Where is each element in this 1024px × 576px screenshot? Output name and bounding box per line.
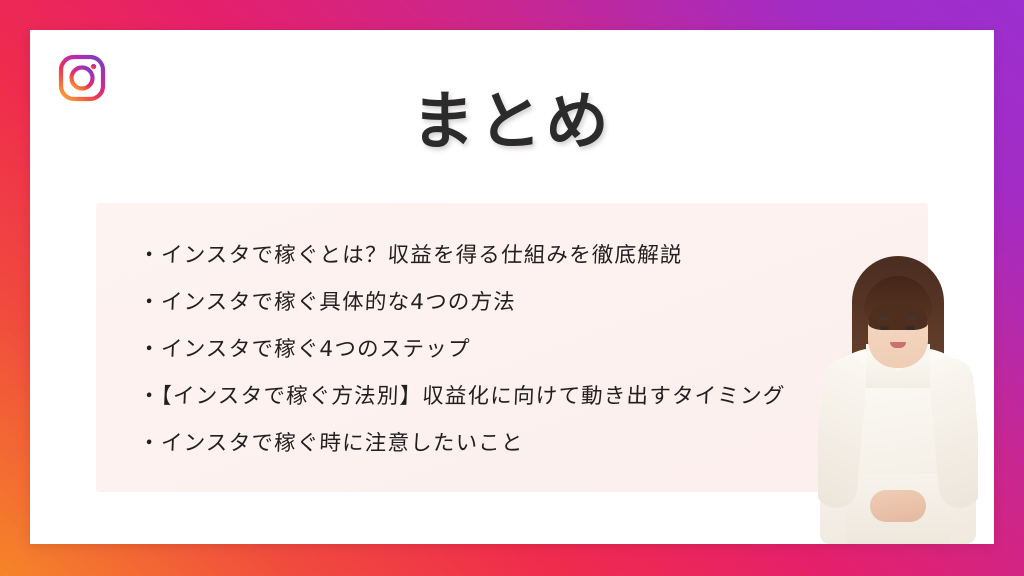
presenter-photo — [818, 244, 978, 544]
slide-card: まとめ ・インスタで稼ぐとは？収益を得る仕組みを徹底解説 ・インスタで稼ぐ具体的… — [30, 30, 994, 544]
slide-background: まとめ ・インスタで稼ぐとは？収益を得る仕組みを徹底解説 ・インスタで稼ぐ具体的… — [0, 0, 1024, 576]
list-item: ・インスタで稼ぐ具体的な4つの方法 — [137, 285, 919, 332]
summary-list: ・インスタで稼ぐとは？収益を得る仕組みを徹底解説 ・インスタで稼ぐ具体的な4つの… — [138, 238, 918, 473]
eye-right — [906, 326, 915, 330]
list-item: ・【インスタで稼ぐ方法別】収益化に向けて動き出すタイミング — [137, 379, 919, 426]
list-item-label: ・インスタで稼ぐとは？収益を得る仕組みを徹底解説 — [138, 238, 684, 269]
page-title: まとめ — [30, 90, 994, 153]
list-item: ・インスタで稼ぐ4つのステップ — [137, 332, 919, 379]
list-item-label: ・【インスタで稼ぐ方法別】収益化に向けて動き出すタイミング — [138, 379, 786, 410]
list-item-label: ・インスタで稼ぐ時に注意したいこと — [138, 426, 525, 457]
list-item: ・インスタで稼ぐ時に注意したいこと — [137, 426, 919, 473]
eye-left — [880, 326, 889, 330]
hands — [870, 490, 926, 522]
list-item: ・インスタで稼ぐとは？収益を得る仕組みを徹底解説 — [137, 238, 919, 285]
list-item-label: ・インスタで稼ぐ具体的な4つの方法 — [138, 285, 517, 316]
hair-fringe — [868, 304, 928, 330]
list-item-label: ・インスタで稼ぐ4つのステップ — [138, 332, 472, 363]
